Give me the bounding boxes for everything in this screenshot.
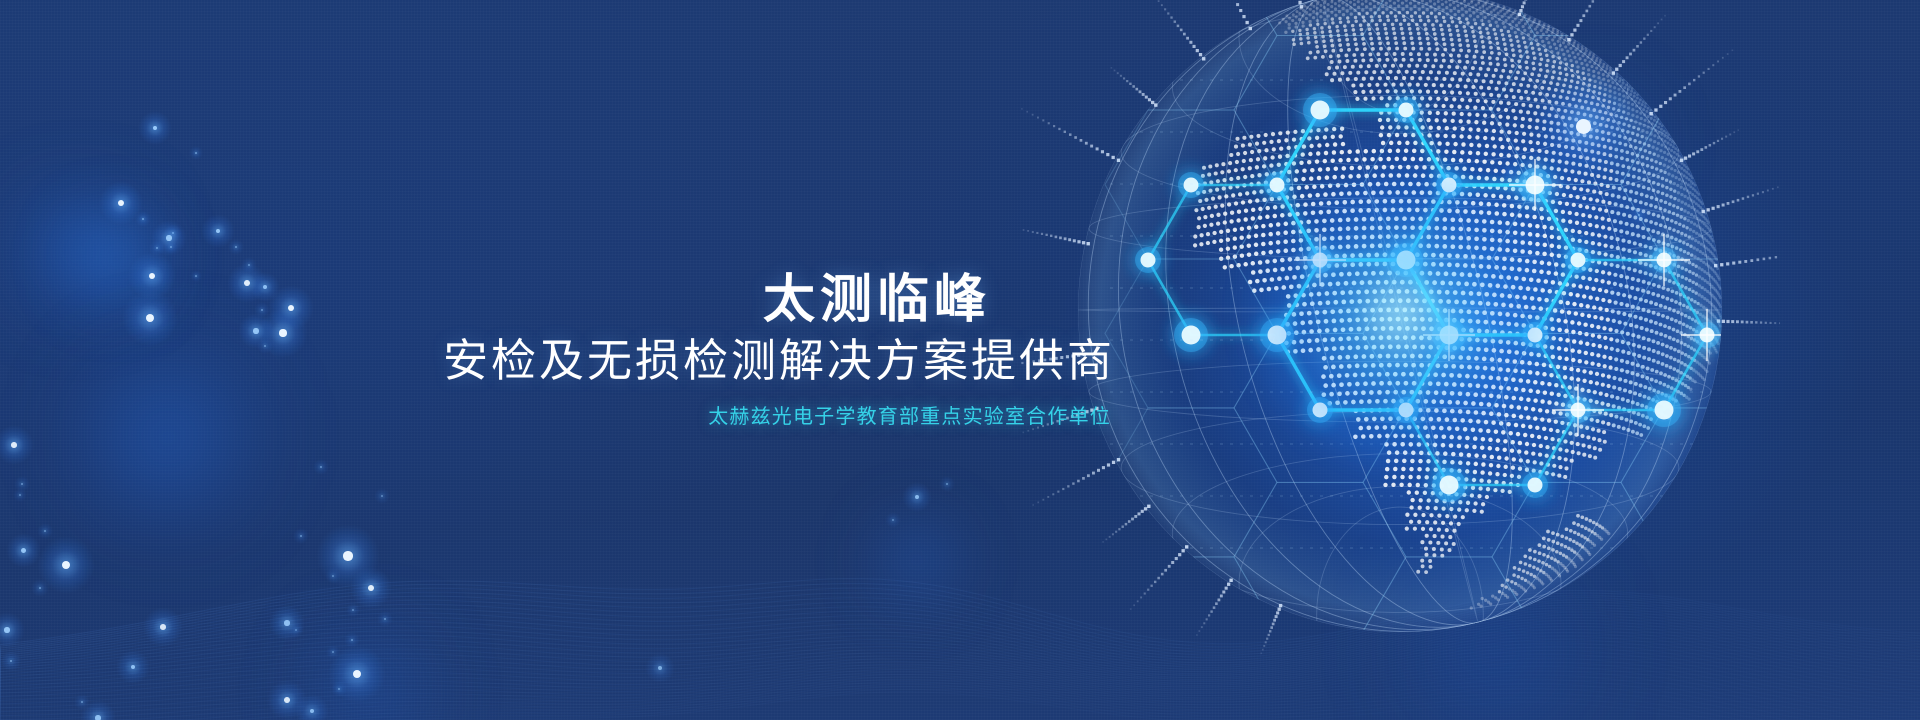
particle-glow [151,220,187,256]
hex-cell [1621,259,1780,408]
particle-glow [269,605,305,641]
particle-glow [344,632,361,649]
wave-line [0,604,1920,669]
network-node-halo [1694,322,1720,348]
latitude-line [1317,0,1484,113]
network-node [1571,403,1586,418]
hex-cell [1492,333,1664,482]
hex-cell [1105,0,1277,110]
hex-cell [1234,185,1406,334]
network-node-halo [1565,397,1591,423]
network-link [1406,335,1578,485]
latitude-line [1089,198,1711,259]
hex-cell [1234,36,1406,185]
wave-line [0,579,1920,652]
network-node [1397,251,1416,270]
latitude-line [1078,308,1722,312]
particle-glow [331,681,348,698]
hex-cell [1750,0,1780,36]
wave-line [0,623,1920,689]
hex-cell [1234,0,1406,36]
hex-cell [1363,557,1535,690]
longitude-line [1020,0,1780,690]
particle-core [166,235,171,240]
particle-glow [164,240,178,254]
wave-line [0,647,1920,710]
wave-line [0,687,1920,720]
network-node-halo [1393,397,1419,423]
network-node-halo [1178,172,1204,198]
network-node-halo [1307,397,1333,423]
particle-glow [346,603,360,617]
particle-glow [1630,206,1648,224]
longitude-line [1052,0,1749,690]
particle-glow [99,181,144,226]
glow-blob [1520,78,1660,218]
wave-line [0,596,1920,664]
hero-text-block: 太测临峰 安检及无损检测解决方案提供商 太赫兹光电子学教育部重点实验室合作单位 [0,272,1115,429]
globe-svg [1020,0,1780,690]
particle-core [172,232,175,235]
network-node [1399,403,1414,418]
hex-cell [1750,36,1780,185]
wave-line [0,658,1920,719]
particle-core [381,495,383,497]
particle-glow [228,239,245,256]
particle-glow [1,651,21,671]
network-node-halo [1264,172,1290,198]
particle-core [310,709,315,714]
longitude-line [1101,0,1699,678]
particle-core [216,229,221,234]
particle-glow [313,459,330,476]
wave-line [0,679,1920,720]
page-subtitle: 安检及无损检测解决方案提供商 [0,334,1115,387]
particle-core [131,665,136,670]
particle-glow [1501,163,1519,181]
network-node-halo [1174,318,1208,352]
globe-core-glow [1235,165,1565,465]
particle-glow [374,488,389,503]
particle-glow [328,645,387,704]
hex-cell [1621,557,1780,690]
particle-core [160,624,166,630]
hex-cell [1492,631,1664,690]
wave-line [0,654,1920,716]
particle-core [118,200,124,206]
particle-glow [31,579,49,597]
sparkle-icon [1509,159,1561,211]
particle-core [1638,214,1641,217]
particle-glow [164,224,182,242]
network-link [1578,260,1707,410]
network-node [1440,476,1459,495]
latitude-line [1239,0,1561,134]
glow-blob [1380,560,1610,720]
particle-core [95,715,100,720]
hex-cell [1363,259,1535,408]
radiating-spikes [1020,0,1780,654]
globe-grid [1020,0,1780,690]
particle-core [1509,171,1512,174]
latitude-line [1317,507,1484,690]
hex-cell [1363,0,1535,110]
particle-core [915,495,919,499]
network-node-halo [1565,247,1591,273]
network-node-halo [1432,318,1466,352]
particle-core [4,627,9,632]
particle-core [170,246,172,248]
glow-blob [290,625,450,720]
particle-glow [902,482,933,513]
particle-glow [189,146,203,160]
particle-glow [288,622,303,637]
wave-line [0,650,1920,713]
particle-core [338,688,340,690]
particle-core [21,483,23,485]
particle-glow [135,211,152,228]
network-link [1148,185,1277,335]
particle-glow [1531,74,1636,179]
particle-glow [6,533,41,568]
network-node [1270,178,1285,193]
particle-core [284,620,289,625]
network-node [1141,253,1156,268]
particle-glow [143,607,182,646]
wave-line [0,684,1920,720]
page-title: 太测临峰 [0,272,1115,328]
hex-cell [1750,482,1780,631]
wave-line [0,612,1920,678]
particle-core [300,535,302,537]
hex-cell [1492,482,1664,631]
wave-line [0,671,1920,720]
particle-glow [149,240,164,255]
particle-glow [37,536,96,595]
particle-glow [37,523,54,540]
globe-dot-map [1193,0,1722,610]
network-node [1526,176,1545,195]
hex-cell [1492,0,1664,36]
longitude-line [1020,0,1779,690]
latitude-line [1239,486,1561,680]
hex-network [1105,0,1780,690]
particle-core [44,530,46,532]
particle-core [39,587,42,590]
network-node [1313,253,1328,268]
particle-glow [241,257,256,272]
wave-line [0,636,1920,701]
particle-core [21,548,26,553]
longitude-line [1166,0,1634,661]
particle-glow [14,476,29,491]
particle-glow [377,611,392,626]
longitude-line [1052,0,1749,690]
particle-core [62,561,70,569]
sparkle-icon [1552,384,1604,436]
particle-glow [885,512,900,527]
particle-core [351,639,353,641]
hex-cell [1363,110,1535,259]
particle-glow [316,524,380,588]
particle-glow [939,476,956,493]
hex-cell [1363,408,1535,557]
page-tagline: 太赫兹光电子学教育部重点实验室合作单位 [0,400,1115,429]
latitude-line [1121,95,1679,208]
particle-core [352,609,354,611]
network-node [1442,178,1457,193]
hex-cell [1105,408,1277,557]
sparkle-icon [1423,309,1475,361]
hex-cell [1621,110,1780,259]
wave-line [0,675,1920,720]
particle-glow [74,694,89,709]
particle-core [1576,119,1591,134]
hex-cell [1621,408,1780,557]
wave-line [0,620,1920,686]
hex-cell [1621,0,1780,110]
particle-core [384,618,386,620]
glow-blob [862,505,972,615]
network-node-halo [1436,172,1462,198]
particle-core [81,701,83,703]
network-node-halo [1260,318,1294,352]
particle-glow [325,568,340,583]
hex-cell [1492,36,1664,185]
particle-core [353,670,361,678]
sparkle-icon [1638,234,1690,286]
wave-line [0,615,1920,681]
network-node [1311,101,1330,120]
particle-glow [645,653,676,684]
wave-line [0,610,1920,676]
wave-line [0,629,1920,695]
network-node-halo [1307,247,1333,273]
latitude-line [1089,361,1711,422]
wave-line [0,689,1920,720]
particle-core [320,466,322,468]
particle-glow [295,694,329,720]
network-node [1268,326,1287,345]
particle-core [195,152,197,154]
wave-line [0,618,1920,684]
particle-glow [116,650,150,684]
network-node-halo [1389,243,1423,277]
particle-core [19,494,21,496]
network-link [1406,185,1578,335]
network-node [1182,326,1201,345]
particle-glow [0,612,25,648]
network-node-halo [1651,247,1677,273]
particle-core [946,483,948,485]
longitude-line [1241,0,1559,643]
particle-core [10,660,13,663]
latitude-line [1172,7,1627,166]
longitude-line [1020,0,1779,690]
wave-line [0,607,1920,672]
particle-core [368,585,374,591]
network-node-halo [1303,93,1337,127]
longitude-line [1166,0,1634,661]
hex-cell [1750,631,1780,690]
network-node-halo [1432,468,1466,502]
particle-glow [326,645,340,659]
hex-cell [1234,631,1406,690]
network-node-halo [1647,393,1681,427]
hero-banner: 太测临峰 安检及无损检测解决方案提供商 太赫兹光电子学教育部重点实验室合作单位 [0,0,1920,720]
particle-glow [201,214,235,248]
hex-cell [1234,333,1406,482]
particle-core [153,126,158,131]
particle-glow [80,700,116,720]
wave-line [0,692,1920,720]
wave-lines-graphic [0,420,1920,720]
network-node-halo [1518,168,1552,202]
network-node [1700,328,1715,343]
particle-core [284,697,290,703]
network-node-halo [1522,322,1548,348]
particle-glow [293,528,310,545]
wave-line [0,592,1920,661]
longitude-line [1101,0,1699,678]
particle-core [332,651,334,653]
particle-glow [350,567,392,609]
wave-line [0,639,1920,704]
particle-glow [267,680,308,720]
hex-cell [1750,333,1780,482]
particle-core [156,247,158,249]
network-node [1399,103,1414,118]
particle-core [892,519,894,521]
network-node [1657,253,1672,268]
network-link [1277,110,1449,260]
network-node [1571,253,1586,268]
network-node [1528,328,1543,343]
hex-cell [1492,185,1664,334]
globe-graphic [1020,0,1780,690]
network-node [1528,478,1543,493]
hex-cell [1750,185,1780,334]
particle-glow [13,488,27,502]
particle-core [332,575,334,577]
particle-core [295,629,297,631]
latitude-line [1172,454,1627,613]
particle-glow [138,111,172,145]
wave-line [0,666,1920,720]
network-node-halo [1522,472,1548,498]
particle-core [235,246,237,248]
wave-line [0,682,1920,720]
network-node [1184,178,1199,193]
particle-core [343,551,352,560]
wave-line [0,600,1920,666]
wave-line [0,662,1920,720]
sparkle-icon [1294,234,1346,286]
hex-cell [1105,259,1277,408]
wave-line [0,583,1920,655]
network-node [1655,401,1674,420]
wave-line [0,633,1920,699]
longitude-line [1321,0,1480,623]
network-link [1277,260,1449,410]
particle-glow [0,425,34,464]
particle-core [142,218,144,220]
network-node [1440,326,1459,345]
latitude-line [1121,411,1679,524]
particle-core [658,666,662,670]
particle-core [248,264,250,266]
longitude-line [1241,0,1559,643]
wave-line [0,643,1920,707]
network-node-halo [1135,247,1161,273]
network-node-halo [1393,97,1419,123]
hex-cell [1105,557,1277,690]
hex-cell [1234,482,1406,631]
sparkle-icon [1681,309,1733,361]
particle-core [11,442,17,448]
hex-cell [1105,110,1277,259]
wave-line [0,588,1920,658]
wave-line [0,626,1920,692]
network-node [1313,403,1328,418]
